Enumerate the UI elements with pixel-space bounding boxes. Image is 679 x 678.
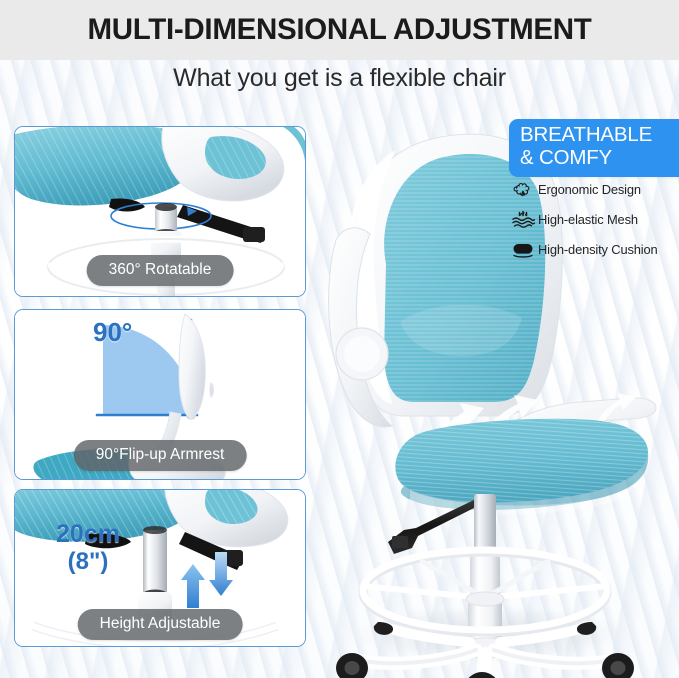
height-note-sub: (8") xyxy=(35,550,141,574)
feature-list: Ergonomic Design High-elastic Mesh xyxy=(508,178,679,268)
panel-flip-up-armrest: 90° 90°Flip-up Armrest xyxy=(14,309,306,480)
chair-seat xyxy=(395,419,648,515)
panel-label-armrest: 90°Flip-up Armrest xyxy=(74,440,247,471)
feature-label: High-density Cushion xyxy=(538,242,658,257)
gas-cylinder xyxy=(468,494,502,643)
panel-label-height: Height Adjustable xyxy=(78,609,243,640)
badge-line-1: BREATHABLE xyxy=(520,124,678,147)
feature-label: High-elastic Mesh xyxy=(538,212,638,227)
infographic-canvas: MULTI-DIMENSIONAL ADJUSTMENT What you ge… xyxy=(0,0,679,678)
panel-label-rotatable: 360° Rotatable xyxy=(87,255,234,286)
panel-note-height: 20cm (8") xyxy=(35,522,141,574)
badge-line-2: & COMFY xyxy=(520,147,678,170)
page-title: MULTI-DIMENSIONAL ADJUSTMENT xyxy=(0,0,679,60)
cotton-icon xyxy=(508,179,538,200)
feature-item-ergonomic-design: Ergonomic Design xyxy=(508,178,679,201)
page-subtitle: What you get is a flexible chair xyxy=(0,64,679,93)
panel-360-rotatable: 360° Rotatable xyxy=(14,126,306,297)
breathable-comfy-badge: BREATHABLE & COMFY xyxy=(509,119,679,177)
feature-label: Ergonomic Design xyxy=(538,182,641,197)
airflow-icon xyxy=(508,209,538,230)
feature-item-high-density-cushion: High-density Cushion xyxy=(508,238,679,261)
panel-note-90-degrees: 90° xyxy=(93,319,132,346)
panel-height-adjustable: 20cm (8") Height Adjustable xyxy=(14,489,306,647)
caster-front xyxy=(465,672,499,678)
cushion-icon xyxy=(508,239,538,260)
height-note-main: 20cm xyxy=(56,520,120,548)
feature-item-high-elastic-mesh: High-elastic Mesh xyxy=(508,208,679,231)
